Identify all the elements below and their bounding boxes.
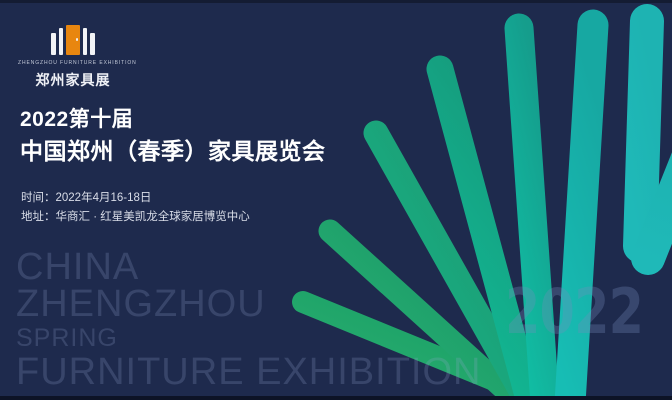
background-english-title: CHINA ZHENGZHOU SPRING FURNITURE EXHIBIT…: [16, 249, 481, 391]
bg-english-line-2: ZHENGZHOU: [16, 286, 481, 323]
bg-english-line-1: CHINA: [16, 249, 481, 286]
bg-english-line-4: FURNITURE EXHIBITION: [16, 353, 481, 391]
year-watermark: 2022: [505, 275, 643, 348]
logo-door-panel: [66, 25, 80, 55]
poster-headline: 2022第十届 中国郑州（春季）家具展览会: [20, 107, 326, 167]
logo-bar-right-outer: [90, 33, 95, 55]
event-poster: ZHENGZHOU FURNITURE EXHIBITION 郑州家具展 202…: [0, 0, 672, 400]
poster-meta: 时间：2022年4月16-18日 地址：华商汇 · 红星美凯龙全球家居博览中心: [21, 189, 250, 227]
logo-english-text: ZHENGZHOU FURNITURE EXHIBITION: [18, 60, 128, 66]
fan-bar-7: [640, 21, 647, 246]
headline-line-2: 中国郑州（春季）家具展览会: [20, 136, 326, 167]
logo-bar-left-outer: [51, 33, 56, 55]
bg-english-line-3: SPRING: [16, 325, 481, 353]
logo-bar-right-inner: [83, 28, 87, 55]
event-address: 地址：华商汇 · 红星美凯龙全球家居博览中心: [21, 208, 250, 227]
logo-chinese-text: 郑州家具展: [18, 70, 128, 90]
exhibition-logo: ZHENGZHOU FURNITURE EXHIBITION 郑州家具展: [18, 21, 128, 90]
headline-line-1: 2022第十届: [20, 107, 326, 133]
event-time: 时间：2022年4月16-18日: [21, 189, 250, 208]
logo-bar-left-inner: [59, 28, 63, 55]
door-logo-icon: [18, 21, 128, 55]
